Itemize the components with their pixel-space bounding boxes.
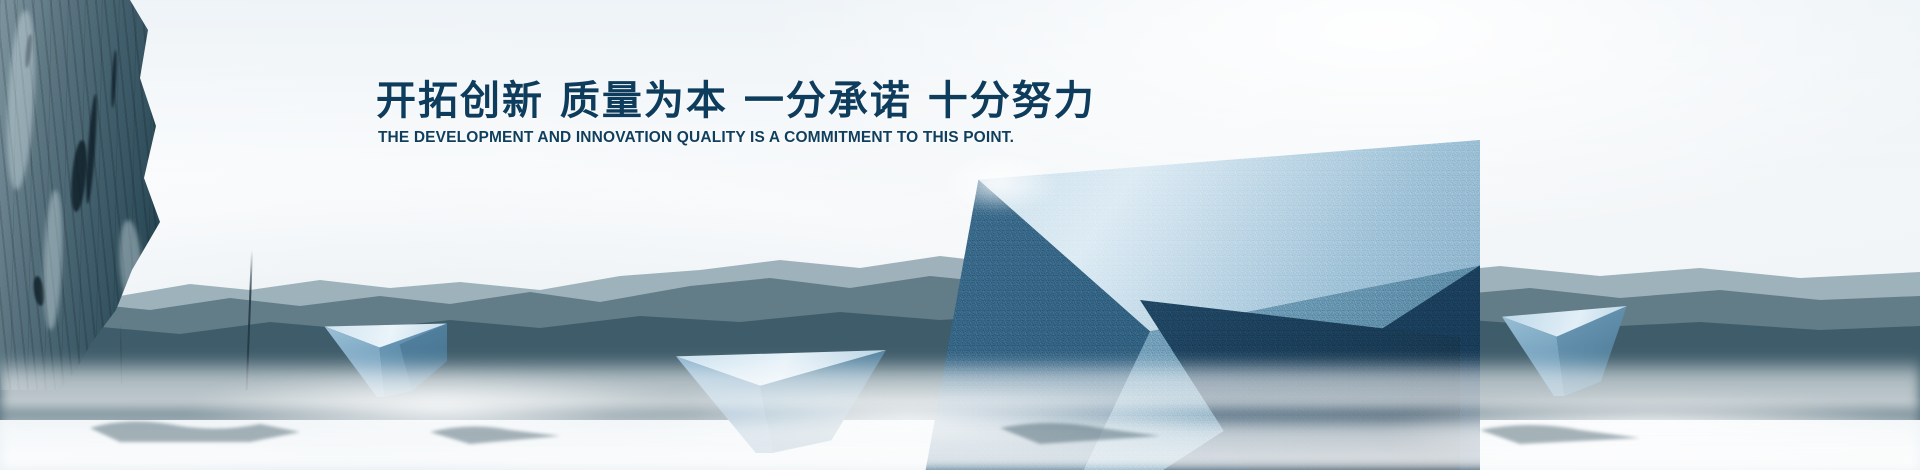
page-subtitle: THE DEVELOPMENT AND INNOVATION QUALITY I… — [376, 129, 1016, 147]
small-pyramid-left — [322, 322, 447, 397]
small-pyramid-right — [1502, 306, 1632, 396]
page-title: 开拓创新 质量为本 一分承诺 十分努力 — [376, 80, 1016, 122]
headline-block: 开拓创新 质量为本 一分承诺 十分努力 THE DEVELOPMENT AND … — [376, 80, 1016, 147]
pyramid-apex-glow — [939, 153, 1059, 213]
foreground-rocks — [0, 398, 1920, 454]
hero-banner: 开拓创新 质量为本 一分承诺 十分努力 THE DEVELOPMENT AND … — [0, 0, 1920, 470]
